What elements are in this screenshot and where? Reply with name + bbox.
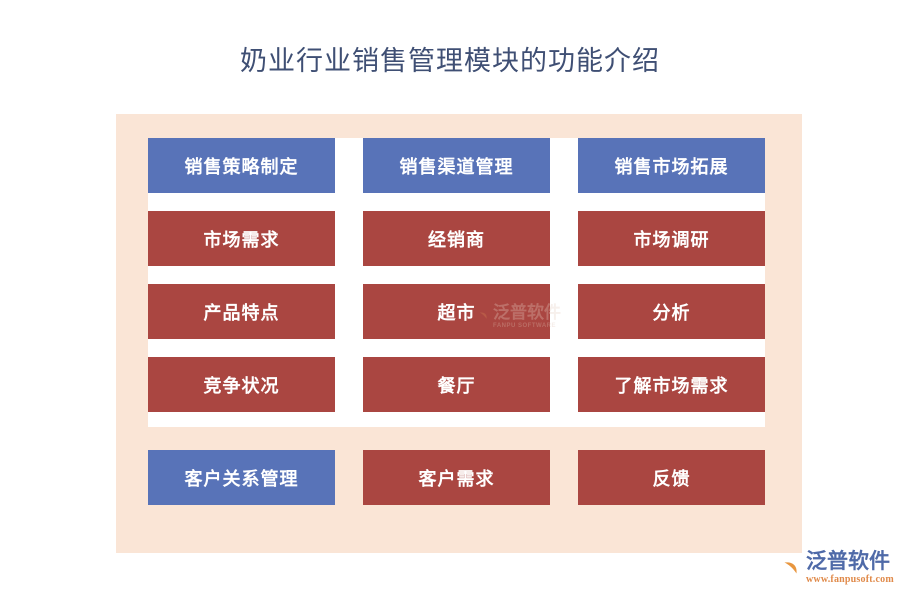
matrix-row: 销售策略制定 销售渠道管理 销售市场拓展	[148, 138, 765, 193]
company-logo: 泛普软件 www.fanpusoft.com	[772, 546, 896, 590]
matrix-cell-market-demand[interactable]: 市场需求	[148, 211, 335, 266]
matrix-cell-restaurant[interactable]: 餐厅	[363, 357, 550, 412]
matrix-cell-feedback[interactable]: 反馈	[578, 450, 765, 505]
content-panel: 销售策略制定 销售渠道管理 销售市场拓展 市场需求 经销商 市场调研 产品特点 …	[116, 114, 802, 553]
matrix-cell-market-research[interactable]: 市场调研	[578, 211, 765, 266]
matrix-cell-understand-market-demand[interactable]: 了解市场需求	[578, 357, 765, 412]
company-logo-brand: 泛普软件	[806, 551, 894, 572]
matrix-cell-customer-demand[interactable]: 客户需求	[363, 450, 550, 505]
matrix-cell-distributor[interactable]: 经销商	[363, 211, 550, 266]
matrix-cell-header-market-expansion[interactable]: 销售市场拓展	[578, 138, 765, 193]
fanpu-logo-icon	[772, 553, 802, 583]
matrix-cell-header-sales-strategy[interactable]: 销售策略制定	[148, 138, 335, 193]
matrix-row: 客户关系管理 客户需求 反馈	[148, 450, 765, 505]
matrix-row: 市场需求 经销商 市场调研	[148, 211, 765, 266]
feature-matrix: 销售策略制定 销售渠道管理 销售市场拓展 市场需求 经销商 市场调研 产品特点 …	[148, 138, 765, 505]
matrix-cell-header-crm[interactable]: 客户关系管理	[148, 450, 335, 505]
matrix-cell-analysis[interactable]: 分析	[578, 284, 765, 339]
matrix-cell-header-sales-channel[interactable]: 销售渠道管理	[363, 138, 550, 193]
matrix-row: 产品特点 超市 分析	[148, 284, 765, 339]
page-title: 奶业行业销售管理模块的功能介绍	[0, 44, 900, 78]
matrix-cell-supermarket[interactable]: 超市	[363, 284, 550, 339]
matrix-cell-competition-status[interactable]: 竞争状况	[148, 357, 335, 412]
matrix-row: 竞争状况 餐厅 了解市场需求	[148, 357, 765, 412]
company-logo-url: www.fanpusoft.com	[806, 575, 894, 585]
matrix-cell-product-features[interactable]: 产品特点	[148, 284, 335, 339]
company-logo-text: 泛普软件 www.fanpusoft.com	[806, 551, 894, 585]
